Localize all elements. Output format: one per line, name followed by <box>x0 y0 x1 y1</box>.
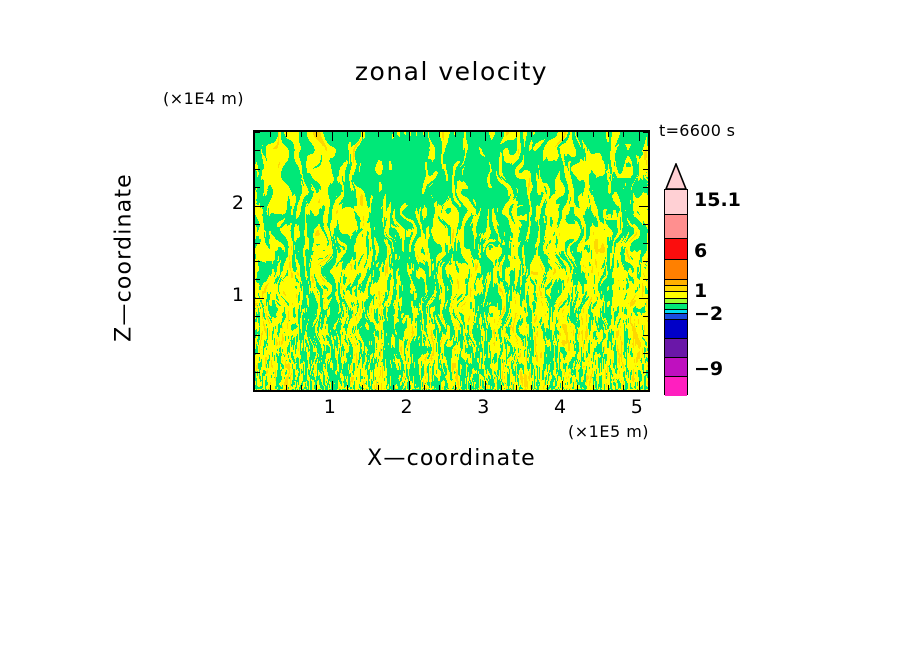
x-minor-tick <box>362 132 363 137</box>
colorbar-tick-label: 1 <box>694 280 707 302</box>
x-minor-tick <box>270 385 271 390</box>
x-minor-tick <box>378 385 379 390</box>
y-minor-tick <box>255 132 260 133</box>
y-major-tick <box>255 206 264 207</box>
velocity-field-image <box>255 132 648 390</box>
colorbar-band <box>665 338 687 358</box>
x-minor-tick <box>516 132 517 137</box>
y-minor-tick <box>255 279 260 280</box>
x-tick-label: 1 <box>315 396 345 418</box>
x-minor-tick <box>623 132 624 137</box>
colorbar-band <box>665 319 687 339</box>
x-major-tick <box>409 381 410 390</box>
y-minor-tick <box>255 243 260 244</box>
x-major-tick <box>332 381 333 390</box>
page-title: zonal velocity <box>253 57 650 86</box>
x-minor-tick <box>470 132 471 137</box>
x-minor-tick <box>347 385 348 390</box>
x-major-tick <box>639 381 640 390</box>
x-minor-tick <box>516 385 517 390</box>
time-annotation: t=6600 s <box>659 121 735 140</box>
x-minor-tick <box>424 132 425 137</box>
y-minor-tick <box>255 316 260 317</box>
x-major-tick <box>562 381 563 390</box>
x-minor-tick <box>347 132 348 137</box>
x-minor-tick <box>424 385 425 390</box>
x-minor-tick <box>470 385 471 390</box>
colorbar-band <box>665 238 687 260</box>
colorbar-band <box>665 259 687 281</box>
colorbar-band <box>665 190 687 215</box>
x-minor-tick <box>393 132 394 137</box>
y-minor-tick <box>643 279 648 280</box>
y-minor-tick <box>255 169 260 170</box>
y-tick-label: 1 <box>218 284 244 306</box>
colorbar-gradient <box>664 189 688 395</box>
x-minor-tick <box>439 132 440 137</box>
y-axis-title: Z—coordinate <box>112 128 137 388</box>
x-tick-label: 3 <box>468 396 498 418</box>
colorbar-tick-label: −2 <box>694 303 723 325</box>
y-minor-tick <box>255 224 260 225</box>
y-minor-tick <box>643 243 648 244</box>
x-minor-tick <box>501 132 502 137</box>
x-minor-tick <box>623 385 624 390</box>
y-major-tick <box>639 206 648 207</box>
x-minor-tick <box>501 385 502 390</box>
y-minor-tick <box>255 353 260 354</box>
x-minor-tick <box>301 132 302 137</box>
x-minor-tick <box>577 385 578 390</box>
y-minor-tick <box>643 261 648 262</box>
x-minor-tick <box>316 385 317 390</box>
x-major-tick <box>485 381 486 390</box>
x-minor-tick <box>547 385 548 390</box>
y-unit-label: (×1E4 m) <box>163 89 244 108</box>
x-tick-label: 5 <box>622 396 652 418</box>
y-minor-tick <box>643 224 648 225</box>
y-minor-tick <box>643 335 648 336</box>
colorbar-band <box>665 357 687 377</box>
y-minor-tick <box>255 150 260 151</box>
x-tick-label: 2 <box>392 396 422 418</box>
colorbar-arrow-icon <box>664 163 688 190</box>
y-major-tick <box>255 298 264 299</box>
plot-area <box>253 130 650 392</box>
y-minor-tick <box>255 372 260 373</box>
y-minor-tick <box>643 187 648 188</box>
y-minor-tick <box>255 261 260 262</box>
x-axis-title: X—coordinate <box>253 446 650 471</box>
y-tick-label: 2 <box>218 192 244 214</box>
x-minor-tick <box>593 132 594 137</box>
figure-canvas: zonal velocity (×1E4 m) Z—coordinate 123… <box>0 0 904 654</box>
x-minor-tick <box>286 132 287 137</box>
colorbar-band <box>665 376 687 396</box>
y-minor-tick <box>643 150 648 151</box>
x-minor-tick <box>531 385 532 390</box>
y-minor-tick <box>643 353 648 354</box>
x-minor-tick <box>608 132 609 137</box>
x-major-tick <box>332 132 333 141</box>
x-minor-tick <box>378 132 379 137</box>
colorbar-tick-label: 6 <box>694 240 707 262</box>
colorbar: 15.161−2−9 <box>664 163 774 395</box>
y-minor-tick <box>643 316 648 317</box>
x-major-tick <box>485 132 486 141</box>
x-minor-tick <box>393 385 394 390</box>
x-major-tick <box>409 132 410 141</box>
y-minor-tick <box>643 372 648 373</box>
x-minor-tick <box>455 132 456 137</box>
x-minor-tick <box>608 385 609 390</box>
x-minor-tick <box>593 385 594 390</box>
x-tick-label: 4 <box>545 396 575 418</box>
y-minor-tick <box>255 187 260 188</box>
x-minor-tick <box>316 132 317 137</box>
x-minor-tick <box>547 132 548 137</box>
x-minor-tick <box>439 385 440 390</box>
colorbar-band <box>665 214 687 240</box>
x-minor-tick <box>531 132 532 137</box>
x-minor-tick <box>270 132 271 137</box>
colorbar-tick-label: 15.1 <box>694 189 741 211</box>
x-minor-tick <box>362 385 363 390</box>
x-unit-label: (×1E5 m) <box>568 422 649 441</box>
x-major-tick <box>639 132 640 141</box>
colorbar-tick-label: −9 <box>694 358 723 380</box>
y-minor-tick <box>255 335 260 336</box>
y-major-tick <box>639 298 648 299</box>
y-minor-tick <box>643 169 648 170</box>
y-minor-tick <box>643 132 648 133</box>
x-minor-tick <box>455 385 456 390</box>
x-minor-tick <box>577 132 578 137</box>
x-minor-tick <box>301 385 302 390</box>
x-minor-tick <box>286 385 287 390</box>
x-major-tick <box>562 132 563 141</box>
